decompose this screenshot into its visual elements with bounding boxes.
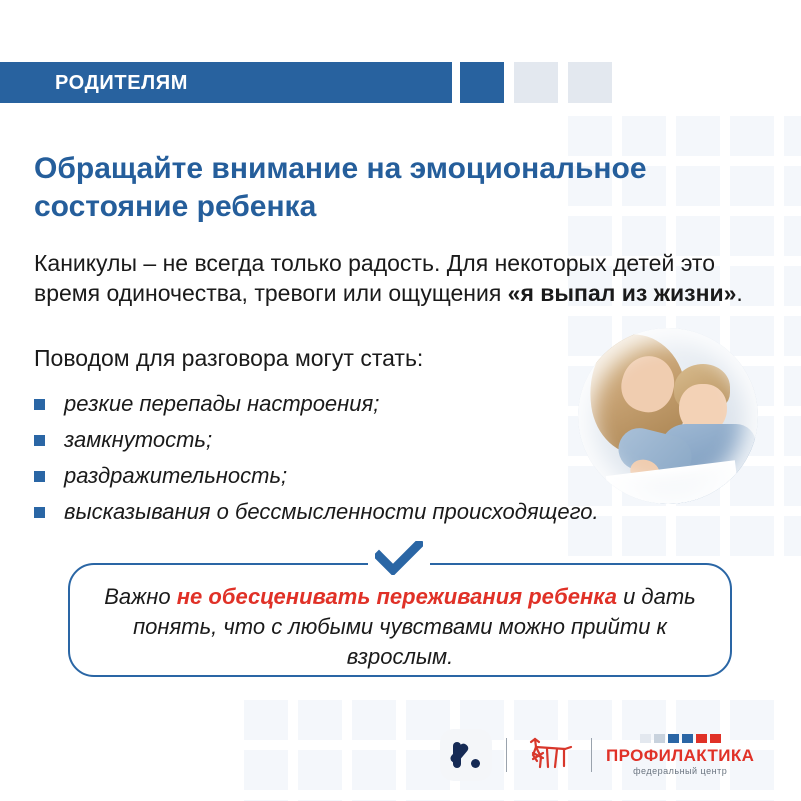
callout-highlight: не обесценивать переживания ребенка — [177, 584, 617, 609]
background-grid-cell — [784, 466, 801, 506]
list-item-label: высказывания о бессмысленности происходя… — [64, 498, 599, 526]
page-title: Обращайте внимание на эмоциональное сост… — [34, 150, 744, 226]
profilaktika-square-4 — [682, 734, 693, 743]
intro-paragraph-emphasis: «я выпал из жизни» — [508, 280, 737, 306]
background-grid-cell — [784, 216, 801, 256]
footer-logos: ПРОФИЛАКТИКА федеральный центр — [440, 727, 740, 783]
logo-divider-1 — [506, 738, 507, 772]
profilaktika-square-1 — [640, 734, 651, 743]
bullet-square-icon — [34, 435, 45, 446]
header-square-gray-1 — [514, 62, 558, 103]
background-grid-cell — [352, 750, 396, 790]
header-label: РОДИТЕЛЯМ — [55, 72, 188, 94]
bullet-square-icon — [34, 507, 45, 518]
profilaktika-squares — [606, 734, 754, 743]
background-grid-cell — [298, 700, 342, 740]
intro-paragraph: Каникулы – не всегда только радость. Для… — [34, 248, 764, 308]
poster-canvas: РОДИТЕЛЯМ Обращайте внимание на эмоциона… — [0, 0, 801, 801]
header-square-gray-2 — [568, 62, 612, 103]
list-item-label: раздражительность; — [64, 462, 287, 490]
background-grid-cell — [784, 516, 801, 556]
list-lead-in: Поводом для разговора могут стать: — [34, 343, 554, 373]
background-grid-cell — [298, 750, 342, 790]
background-grid-cell — [784, 416, 801, 456]
profilaktika-subtitle: федеральный центр — [606, 765, 754, 777]
background-grid-cell — [244, 750, 288, 790]
background-grid-cell — [784, 316, 801, 356]
logo-divider-2 — [591, 738, 592, 772]
profilaktika-square-5 — [696, 734, 707, 743]
bullet-square-icon — [34, 471, 45, 482]
k-logo-icon — [440, 729, 492, 781]
background-grid-cell — [784, 266, 801, 306]
k-logo-dot — [471, 759, 480, 768]
background-grid-cell — [352, 700, 396, 740]
profilaktika-logo: ПРОФИЛАКТИКА федеральный центр — [606, 734, 754, 777]
background-grid-cell — [784, 366, 801, 406]
background-grid-cell — [244, 700, 288, 740]
profilaktika-square-6 — [710, 734, 721, 743]
important-callout-text: Важно не обесценивать переживания ребенк… — [78, 582, 722, 672]
list-item-label: резкие перепады настроения; — [64, 390, 379, 418]
deer-emblem-icon — [521, 733, 577, 777]
callout-lead: Важно — [104, 584, 177, 609]
profilaktika-name: ПРОФИЛАКТИКА — [606, 746, 754, 765]
background-grid-cell — [784, 116, 801, 156]
profilaktika-square-2 — [654, 734, 665, 743]
bullet-square-icon — [34, 399, 45, 410]
background-grid-cell — [784, 166, 801, 206]
list-item-label: замкнутость; — [64, 426, 212, 454]
check-icon — [375, 541, 423, 575]
photo-vignette — [578, 328, 758, 504]
header-square-blue — [460, 62, 504, 103]
family-photo — [578, 328, 758, 504]
profilaktika-square-3 — [668, 734, 679, 743]
intro-paragraph-tail: . — [736, 280, 742, 306]
